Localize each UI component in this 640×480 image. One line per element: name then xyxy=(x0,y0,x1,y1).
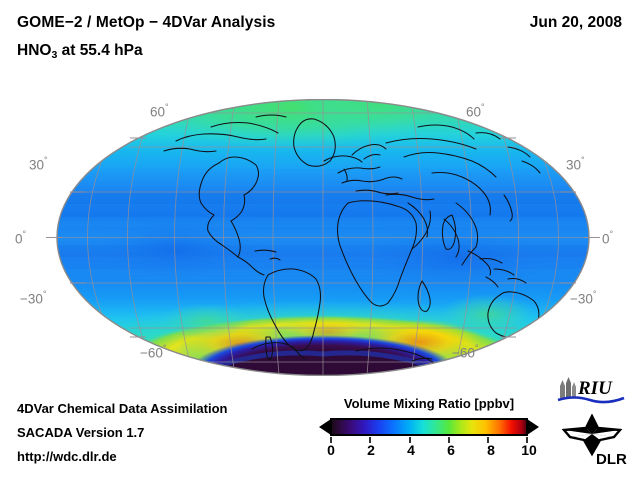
footer-line-url[interactable]: http://wdc.dlr.de xyxy=(17,449,117,464)
riu-logo: RIU xyxy=(556,374,628,406)
colorbar-tick-6: 6 xyxy=(447,442,455,458)
global-map xyxy=(56,99,590,376)
colorbar-tick-8: 8 xyxy=(487,442,495,458)
degree-symbol: ° xyxy=(43,289,47,299)
dlr-logo: DLR xyxy=(556,414,630,466)
page-title: GOME−2 / MetOp − 4DVar Analysis xyxy=(17,14,275,32)
species-prefix: HNO xyxy=(17,42,51,59)
degree-symbol: ° xyxy=(593,289,597,299)
colorbar-tick-10: 10 xyxy=(521,442,537,458)
figure-root: GOME−2 / MetOp − 4DVar Analysis HNO3 at … xyxy=(0,0,640,480)
lat-label-right-30: 30° xyxy=(566,156,585,173)
lat-label-left-minus30: −30° xyxy=(20,290,47,307)
riu-wordmark: RIU xyxy=(577,378,613,399)
dlr-pinwheel-icon xyxy=(564,416,620,454)
colorbar-tick-2: 2 xyxy=(367,442,375,458)
lat-label-right-0: 0° xyxy=(602,230,613,247)
lat-label-left-0: 0° xyxy=(15,230,26,247)
lat-label-right-minus30: −30° xyxy=(570,290,597,307)
dlr-logo-svg: DLR xyxy=(556,414,630,466)
colorbar-tick-0: 0 xyxy=(327,442,335,458)
lat-label-left-30: 30° xyxy=(29,156,48,173)
lat-label-left-minus60: −60° xyxy=(140,344,167,361)
dlr-wordmark: DLR xyxy=(596,451,627,466)
footer-line-version: SACADA Version 1.7 xyxy=(17,425,144,440)
species-pressure-label: HNO3 at 55.4 hPa xyxy=(17,42,143,60)
lat-tick-marks xyxy=(34,99,612,376)
species-suffix: at 55.4 hPa xyxy=(57,42,142,59)
lat-label-right-minus60: −60° xyxy=(452,344,479,361)
colorbar: Volume Mixing Ratio [ppbv] 0 2 4 6 8 10 xyxy=(312,396,546,468)
species-subscript: 3 xyxy=(51,49,57,61)
degree-symbol: ° xyxy=(481,102,485,112)
footer-line-assimilation: 4DVar Chemical Data Assimilation xyxy=(17,401,228,416)
degree-symbol: ° xyxy=(475,343,479,353)
colorbar-left-arrow xyxy=(319,419,331,435)
colorbar-svg xyxy=(318,417,540,437)
degree-symbol: ° xyxy=(581,155,585,165)
degree-symbol: ° xyxy=(610,229,614,239)
colorbar-title: Volume Mixing Ratio [ppbv] xyxy=(312,396,546,411)
degree-symbol: ° xyxy=(44,155,48,165)
colorbar-right-arrow xyxy=(527,419,539,435)
colorbar-ramp xyxy=(331,419,527,435)
colorbar-ticks: 0 2 4 6 8 10 xyxy=(312,442,546,462)
colorbar-tick-marks xyxy=(318,437,540,444)
lat-label-left-60: 60° xyxy=(150,103,169,120)
date-label: Jun 20, 2008 xyxy=(530,14,622,32)
riu-logo-svg: RIU xyxy=(556,374,628,406)
degree-symbol: ° xyxy=(23,229,27,239)
degree-symbol: ° xyxy=(165,102,169,112)
riu-towers-icon xyxy=(560,377,576,398)
colorbar-tick-4: 4 xyxy=(407,442,415,458)
lat-label-right-60: 60° xyxy=(466,103,485,120)
degree-symbol: ° xyxy=(163,343,167,353)
colorbar-gradient xyxy=(318,417,540,437)
